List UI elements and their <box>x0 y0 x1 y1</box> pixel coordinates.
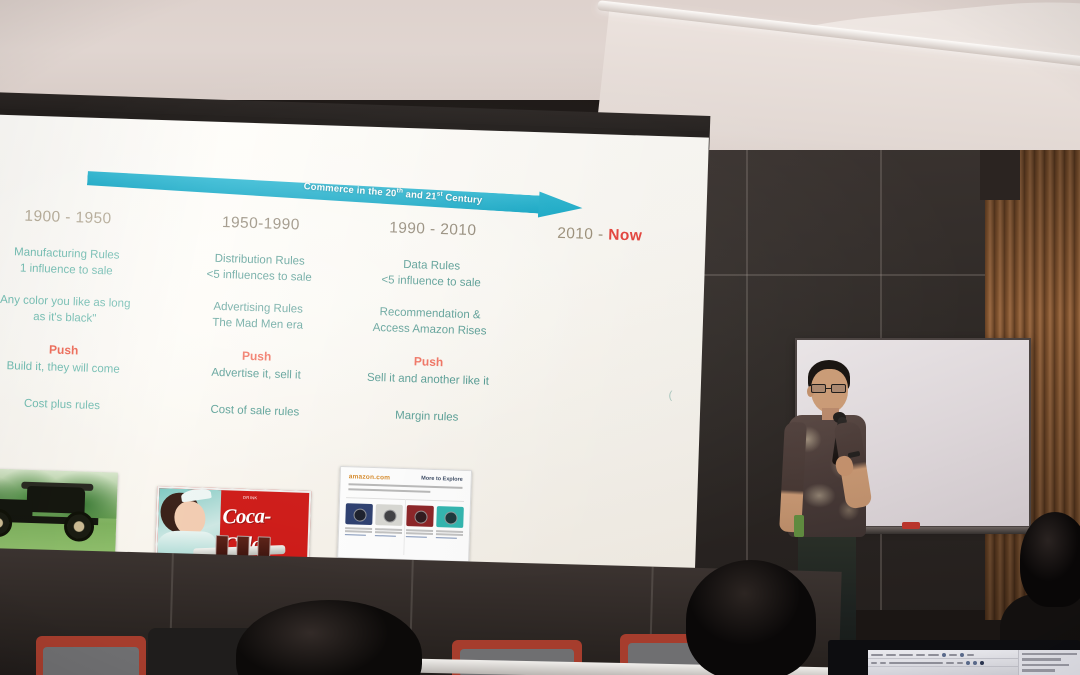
cost-label: Cost of sale rules <box>160 402 350 420</box>
auditorium-chair <box>36 636 146 675</box>
product-text <box>406 529 433 538</box>
amazon-product-grid <box>345 503 464 541</box>
era-prefix: 2010 - <box>557 225 609 244</box>
era-label: 1990 - 2010 <box>338 218 528 242</box>
quote-block: Advertising Rules The Mad Men era <box>162 298 353 336</box>
strategy-block: Push Sell it and another like it <box>333 351 524 392</box>
product-text <box>375 528 402 537</box>
laptop[interactable] <box>828 640 1080 675</box>
whiteboard-marker <box>902 522 920 529</box>
camera-icon <box>436 506 464 528</box>
strategy-block: Push Build it, they will come <box>0 339 164 380</box>
more-to-explore-link: More to Explore <box>421 476 463 483</box>
product-card <box>405 505 433 540</box>
quote-block: Recommendation & Access Amazon Rises <box>334 303 525 341</box>
product-card <box>345 503 373 538</box>
ad-small-text: DRINK <box>243 495 258 500</box>
product-text <box>436 530 463 539</box>
amazon-screenshot-image: amazon.com More to Explore <box>337 466 472 562</box>
laptop-screen[interactable] <box>868 650 1080 675</box>
product-card <box>375 504 403 539</box>
amazon-body-copy <box>348 483 462 497</box>
product-text <box>345 527 372 536</box>
ford-model-t-image <box>0 468 118 559</box>
presenter-badge <box>794 515 804 537</box>
conference-room-photo: Commerce in the 20th and 21st Century 19… <box>0 0 1080 675</box>
era-column-1990-2010: 1990 - 2010 Data Rules <5 influence to s… <box>332 218 528 426</box>
camera-icon <box>376 504 404 526</box>
era-column-1950-1990: 1950-1990 Distribution Rules <5 influenc… <box>160 212 356 420</box>
strategy-block: Push Advertise it, sell it <box>161 346 352 387</box>
era-label: 2010 - Now <box>509 223 689 247</box>
audience-head <box>1020 512 1080 607</box>
clipped-character: ( <box>668 390 672 402</box>
camera-icon <box>345 503 373 525</box>
car-wheel-rear <box>64 511 95 542</box>
audience-head <box>686 560 816 675</box>
product-card <box>436 506 464 541</box>
laptop-side-panel[interactable] <box>1018 650 1080 675</box>
eyeglasses-icon <box>811 384 849 393</box>
rules-block: Manufacturing Rules 1 influence to sale <box>0 244 167 282</box>
quote-block: Any color you like as long as it's black… <box>0 291 165 329</box>
strategy-desc: Sell it and another like it <box>333 370 523 392</box>
era-column-2010-now: 2010 - Now <box>509 223 690 267</box>
rules-block: Distribution Rules <5 influences to sale <box>164 250 355 288</box>
projection-screen: Commerce in the 20th and 21st Century 19… <box>0 109 709 584</box>
cost-label: Cost plus rules <box>0 396 162 414</box>
slide-surface: Commerce in the 20th and 21st Century 19… <box>0 115 709 580</box>
cost-label: Margin rules <box>332 407 522 425</box>
era-label: 1900 - 1950 <box>0 206 168 230</box>
amazon-logo: amazon.com <box>349 473 391 481</box>
rules-block: Data Rules <5 influence to sale <box>336 256 527 294</box>
coca-cola-logo: Coca-Cola <box>222 501 309 531</box>
era-highlight-now: Now <box>608 226 642 244</box>
car-cabin <box>26 486 85 514</box>
strategy-desc: Advertise it, sell it <box>161 364 351 386</box>
car-body <box>0 492 99 536</box>
era-label: 1950-1990 <box>166 212 356 236</box>
camera-icon <box>406 505 434 527</box>
wall-recess <box>980 150 1020 200</box>
era-column-1900-1950: 1900 - 1950 Manufacturing Rules 1 influe… <box>0 206 168 414</box>
